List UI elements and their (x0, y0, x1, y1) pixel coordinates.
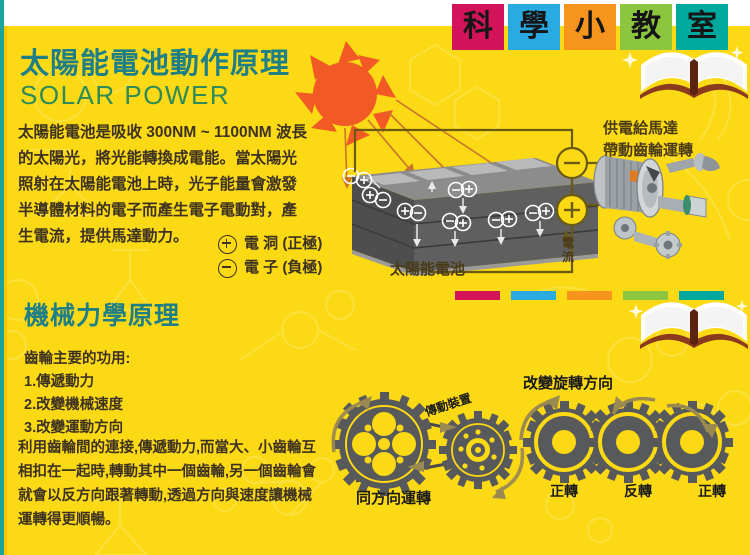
gear-captions: 正轉 反轉 正轉 (533, 481, 743, 501)
section1-title: 太陽能電池動作原理 (20, 40, 290, 82)
color-bar-4 (623, 291, 668, 300)
section2-body-text: 利用齒輪間的連接,傳遞動力,而當大、小齒輪互相扣在一起時,轉動其中一個齒輪,另一… (18, 436, 318, 532)
color-bar-2 (511, 291, 556, 300)
word-box-1-char: 科 (463, 12, 493, 42)
list-item: 2.改變機械速度 (24, 394, 130, 417)
section1-body-text: 太陽能電池是吸收 300NM ~ 1100NM 波長的太陽光，將光能轉換成電能。… (18, 120, 308, 250)
color-bar-5 (679, 291, 724, 300)
minus-circle-icon (218, 259, 237, 278)
list-heading: 齒輪主要的功用: (24, 348, 130, 371)
gear-large (332, 392, 436, 496)
word-box-2-char: 學 (519, 12, 549, 42)
gear-forward-2 (651, 401, 733, 483)
solar-cell-caption: 太陽能電池 (390, 258, 465, 279)
word-box-4-char: 教 (631, 12, 661, 42)
motor-label-line1: 供電給馬達 (603, 118, 693, 140)
legend-item-hole: 電 洞 (正極) (218, 232, 322, 256)
word-box-3: 小 (564, 4, 616, 50)
section2-list: 齒輪主要的功用: 1.傳遞動力 2.改變機械速度 3.改變運動方向 (24, 348, 130, 440)
motor-label-line2: 帶動齒輪運轉 (603, 140, 693, 162)
current-label: 電流 (562, 236, 576, 264)
word-box-5: 室 (676, 4, 728, 50)
word-box-4: 教 (620, 4, 672, 50)
word-box-3-char: 小 (575, 12, 605, 42)
color-bar-1 (455, 291, 500, 300)
charge-legend: 電 洞 (正極) 電 子 (負極) (218, 232, 322, 280)
legend-item-electron: 電 子 (負極) (218, 256, 322, 280)
direction-change-label: 改變旋轉方向 (523, 372, 613, 393)
left-gold-edge (4, 26, 7, 555)
gear-caption-2: 反轉 (607, 481, 669, 501)
header-word-bar: 科 學 小 教 室 (452, 4, 728, 50)
word-box-2: 學 (508, 4, 560, 50)
legend-label-hole: 電 洞 (正極) (244, 232, 322, 256)
decorative-color-strip (455, 291, 724, 300)
gear-small (439, 411, 517, 489)
plus-circle-icon (218, 235, 237, 254)
section1-subtitle: SOLAR POWER (20, 80, 230, 111)
color-bar-3 (567, 291, 612, 300)
gear-caption-1: 正轉 (533, 481, 595, 501)
motor-description-label: 供電給馬達 帶動齒輪運轉 (603, 118, 693, 162)
section2-title: 機械力學原理 (24, 296, 180, 332)
three-gear-row (521, 395, 733, 483)
same-direction-label: 同方向運轉 (356, 487, 431, 508)
legend-label-electron: 電 子 (負極) (244, 256, 322, 280)
infographic-poster: 科 學 小 教 室 太陽能電池動作原理 S (0, 0, 750, 555)
word-box-1: 科 (452, 4, 504, 50)
list-item: 1.傳遞動力 (24, 371, 130, 394)
word-box-5-char: 室 (687, 12, 717, 42)
gear-caption-3: 正轉 (681, 481, 743, 501)
